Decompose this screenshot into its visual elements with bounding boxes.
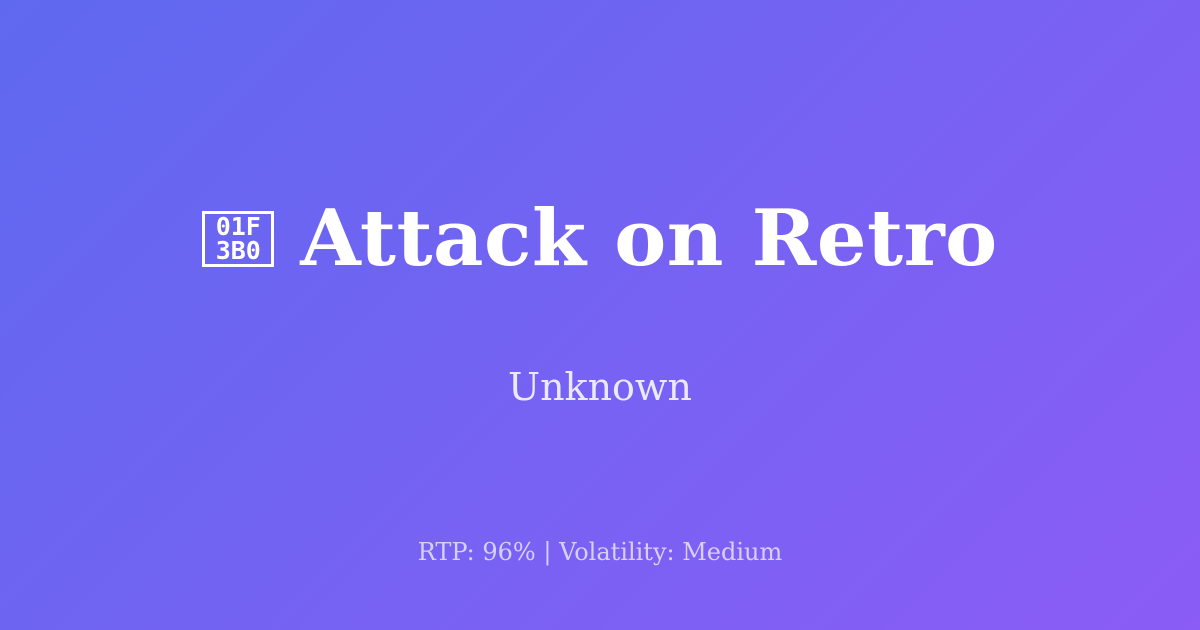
provider-subtitle: Unknown <box>0 363 1200 411</box>
page-title: Attack on Retro <box>300 200 997 278</box>
og-share-card: 01F 3B0 Attack on Retro Unknown RTP: 96%… <box>0 0 1200 630</box>
slot-machine-emoji-icon: 01F 3B0 <box>202 211 274 267</box>
title-line: 01F 3B0 Attack on Retro <box>202 200 997 278</box>
tofu-codepoint-bottom: 3B0 <box>216 239 261 263</box>
game-stats-footer: RTP: 96% | Volatility: Medium <box>0 536 1200 568</box>
